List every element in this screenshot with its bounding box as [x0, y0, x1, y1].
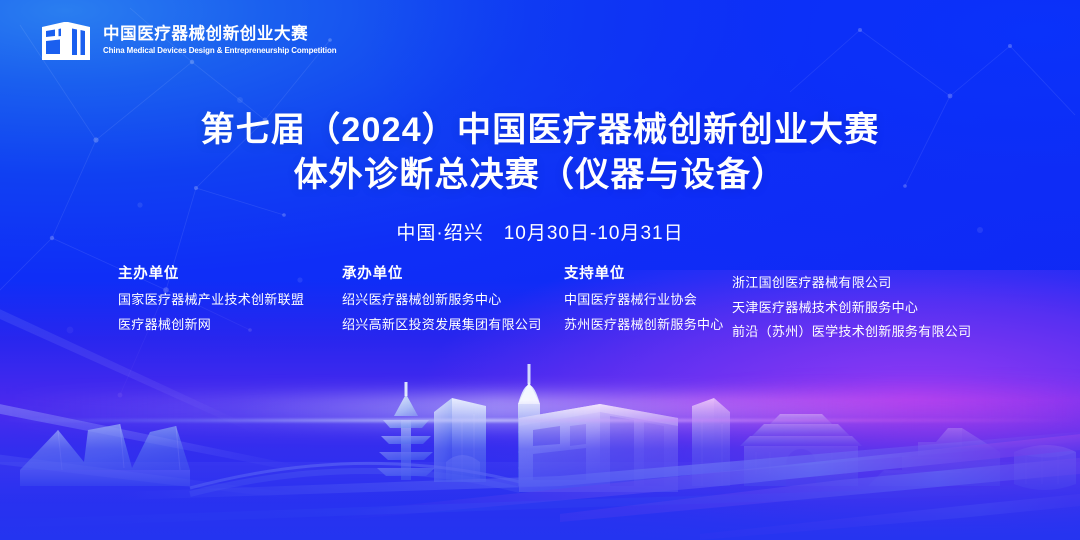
organizer-column-supporter: 支持单位 中国医疗器械行业协会 苏州医疗器械创新服务中心 [564, 266, 732, 343]
organizer-column-organizer: 承办单位 绍兴医疗器械创新服务中心 绍兴高新区投资发展集团有限公司 [342, 266, 564, 343]
event-location-dates: 中国·绍兴 10月30日-10月31日 [0, 218, 1080, 245]
competition-logo-icon [40, 18, 92, 64]
organizer-column-host: 主办单位 国家医疗器械产业技术创新联盟 医疗器械创新网 [118, 266, 342, 343]
organizer-columns: 主办单位 国家医疗器械产业技术创新联盟 医疗器械创新网 承办单位 绍兴医疗器械创… [118, 266, 992, 350]
event-title: 第七届（2024）中国医疗器械创新创业大赛 体外诊断总决赛（仪器与设备） [0, 108, 1080, 198]
organizer-item: 浙江国创医疗器械有限公司 [732, 276, 992, 290]
event-banner: 中国医疗器械创新创业大赛 China Medical Devices Desig… [0, 0, 1080, 540]
organizer-heading: 主办单位 [118, 266, 342, 283]
brand-logo-lockup[interactable]: 中国医疗器械创新创业大赛 China Medical Devices Desig… [40, 18, 344, 64]
event-title-line1: 第七届（2024）中国医疗器械创新创业大赛 [0, 108, 1080, 153]
background-floor [0, 400, 1080, 540]
organizer-column-supporter-extra: 浙江国创医疗器械有限公司 天津医疗器械技术创新服务中心 前沿（苏州）医学技术创新… [732, 266, 992, 350]
organizer-item: 天津医疗器械技术创新服务中心 [732, 301, 992, 315]
event-title-line2: 体外诊断总决赛（仪器与设备） [0, 153, 1080, 198]
organizer-item: 医疗器械创新网 [118, 318, 342, 332]
brand-name-cn: 中国医疗器械创新创业大赛 [103, 26, 344, 43]
organizer-item: 国家医疗器械产业技术创新联盟 [118, 293, 342, 307]
organizer-item: 前沿（苏州）医学技术创新服务有限公司 [732, 325, 992, 339]
organizer-item: 绍兴医疗器械创新服务中心 [342, 293, 564, 307]
brand-name-en: China Medical Devices Design & Entrepren… [103, 46, 336, 57]
organizer-heading: 承办单位 [342, 266, 564, 283]
brand-text: 中国医疗器械创新创业大赛 China Medical Devices Desig… [103, 26, 344, 57]
organizer-item: 苏州医疗器械创新服务中心 [564, 318, 732, 332]
organizer-heading: 支持单位 [564, 266, 732, 283]
organizer-item: 绍兴高新区投资发展集团有限公司 [342, 318, 564, 332]
organizer-item: 中国医疗器械行业协会 [564, 293, 732, 307]
